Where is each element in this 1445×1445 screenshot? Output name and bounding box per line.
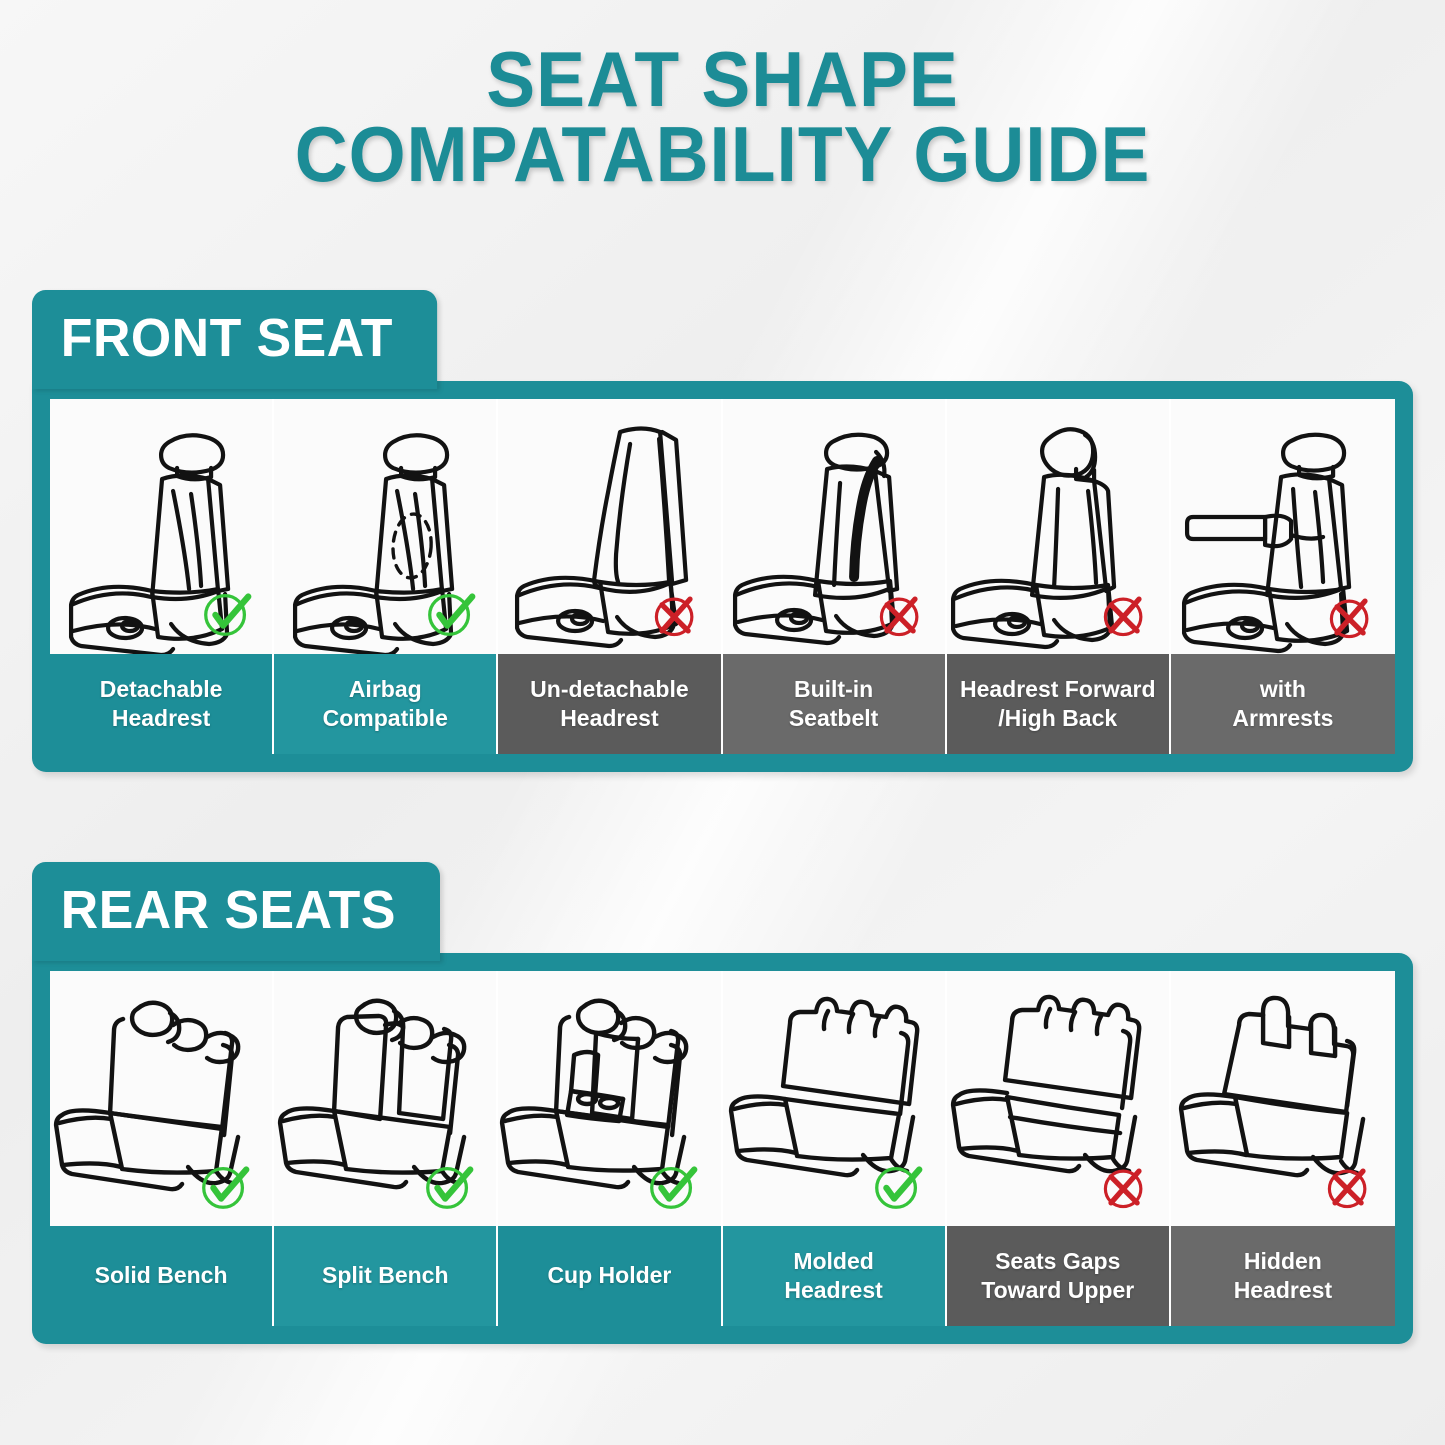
cross-circle-icon xyxy=(1097,587,1153,643)
caption-line-1: Built-in xyxy=(794,676,873,702)
caption-line-1: Airbag xyxy=(349,676,422,702)
cross-circle-icon xyxy=(873,587,929,643)
front-caption-airbag-compatible: Airbag Compatible xyxy=(274,654,498,754)
front-caption-with-armrests: with Armrests xyxy=(1171,654,1395,754)
caption-line-2: Headrest xyxy=(784,1277,882,1303)
rear-caption-seats-gaps-upper: Seats Gaps Toward Upper xyxy=(947,1226,1171,1326)
rear-caption-split-bench: Split Bench xyxy=(274,1226,498,1326)
caption-line-2: Compatible xyxy=(323,705,448,731)
cross-circle-icon xyxy=(1097,1159,1153,1215)
front-caption-undetachable-headrest: Un-detachable Headrest xyxy=(498,654,722,754)
rear-caption-solid-bench: Solid Bench xyxy=(50,1226,274,1326)
rear-cell-split-bench[interactable]: Split Bench xyxy=(274,971,498,1326)
cross-circle-icon xyxy=(648,587,704,643)
caption-line-1: Headrest Forward xyxy=(960,676,1156,702)
caption-line-1: Detachable xyxy=(100,676,223,702)
title-line-2: COMPATABILITY GUIDE xyxy=(43,117,1401,192)
rear-seats-panel: Solid Bench xyxy=(32,953,1413,1344)
front-caption-builtin-seatbelt: Built-in Seatbelt xyxy=(723,654,947,754)
caption-line-2: Headrest xyxy=(1234,1277,1332,1303)
front-cell-with-armrests[interactable]: with Armrests xyxy=(1171,399,1395,754)
front-seat-grid: Detachable Headrest xyxy=(50,399,1395,754)
front-cell-detachable-headrest[interactable]: Detachable Headrest xyxy=(50,399,274,754)
check-circle-icon xyxy=(422,584,480,642)
front-seat-section: FRONT SEAT xyxy=(32,290,1413,772)
caption-line-2: /High Back xyxy=(998,705,1117,731)
check-circle-icon xyxy=(644,1157,702,1215)
check-circle-icon xyxy=(869,1157,927,1215)
caption-line-1: Seats Gaps xyxy=(995,1248,1120,1274)
front-cell-headrest-forward[interactable]: Headrest Forward /High Back xyxy=(947,399,1171,754)
rear-cell-seats-gaps-upper[interactable]: Seats Gaps Toward Upper xyxy=(947,971,1171,1326)
front-caption-detachable-headrest: Detachable Headrest xyxy=(50,654,274,754)
rear-caption-hidden-headrest: Hidden Headrest xyxy=(1171,1226,1395,1326)
check-circle-icon xyxy=(420,1157,478,1215)
rear-caption-molded-headrest: Molded Headrest xyxy=(723,1226,947,1326)
rear-seats-grid: Solid Bench xyxy=(50,971,1395,1326)
rear-cell-hidden-headrest[interactable]: Hidden Headrest xyxy=(1171,971,1395,1326)
rear-seats-section: REAR SEATS xyxy=(32,862,1413,1344)
caption-line-1: Un-detachable xyxy=(530,676,688,702)
front-caption-headrest-forward: Headrest Forward /High Back xyxy=(947,654,1171,754)
cross-circle-icon xyxy=(1323,589,1379,645)
caption-line-1: Molded xyxy=(793,1248,874,1274)
rear-cell-cup-holder[interactable]: Cup Holder xyxy=(498,971,722,1326)
front-cell-builtin-seatbelt[interactable]: Built-in Seatbelt xyxy=(723,399,947,754)
front-seat-panel: Detachable Headrest xyxy=(32,381,1413,772)
caption-line-1: Hidden xyxy=(1244,1248,1322,1274)
caption-line-1: with xyxy=(1260,676,1306,702)
caption-line-2: Headrest xyxy=(112,705,210,731)
caption-line-1: Solid Bench xyxy=(95,1262,228,1288)
caption-line-2: Toward Upper xyxy=(981,1277,1134,1303)
check-circle-icon xyxy=(198,584,256,642)
caption-line-1: Cup Holder xyxy=(547,1262,671,1288)
front-cell-undetachable-headrest[interactable]: Un-detachable Headrest xyxy=(498,399,722,754)
caption-line-2: Armrests xyxy=(1232,705,1333,731)
rear-caption-cup-holder: Cup Holder xyxy=(498,1226,722,1326)
front-seat-heading: FRONT SEAT xyxy=(32,290,437,389)
rear-cell-solid-bench[interactable]: Solid Bench xyxy=(50,971,274,1326)
caption-line-1: Split Bench xyxy=(322,1262,449,1288)
check-circle-icon xyxy=(196,1157,254,1215)
caption-line-2: Headrest xyxy=(560,705,658,731)
rear-cell-molded-headrest[interactable]: Molded Headrest xyxy=(723,971,947,1326)
cross-circle-icon xyxy=(1321,1159,1377,1215)
rear-seats-heading: REAR SEATS xyxy=(32,862,440,961)
caption-line-2: Seatbelt xyxy=(789,705,878,731)
front-cell-airbag-compatible[interactable]: Airbag Compatible xyxy=(274,399,498,754)
page-title: SEAT SHAPE COMPATABILITY GUIDE xyxy=(43,42,1401,192)
